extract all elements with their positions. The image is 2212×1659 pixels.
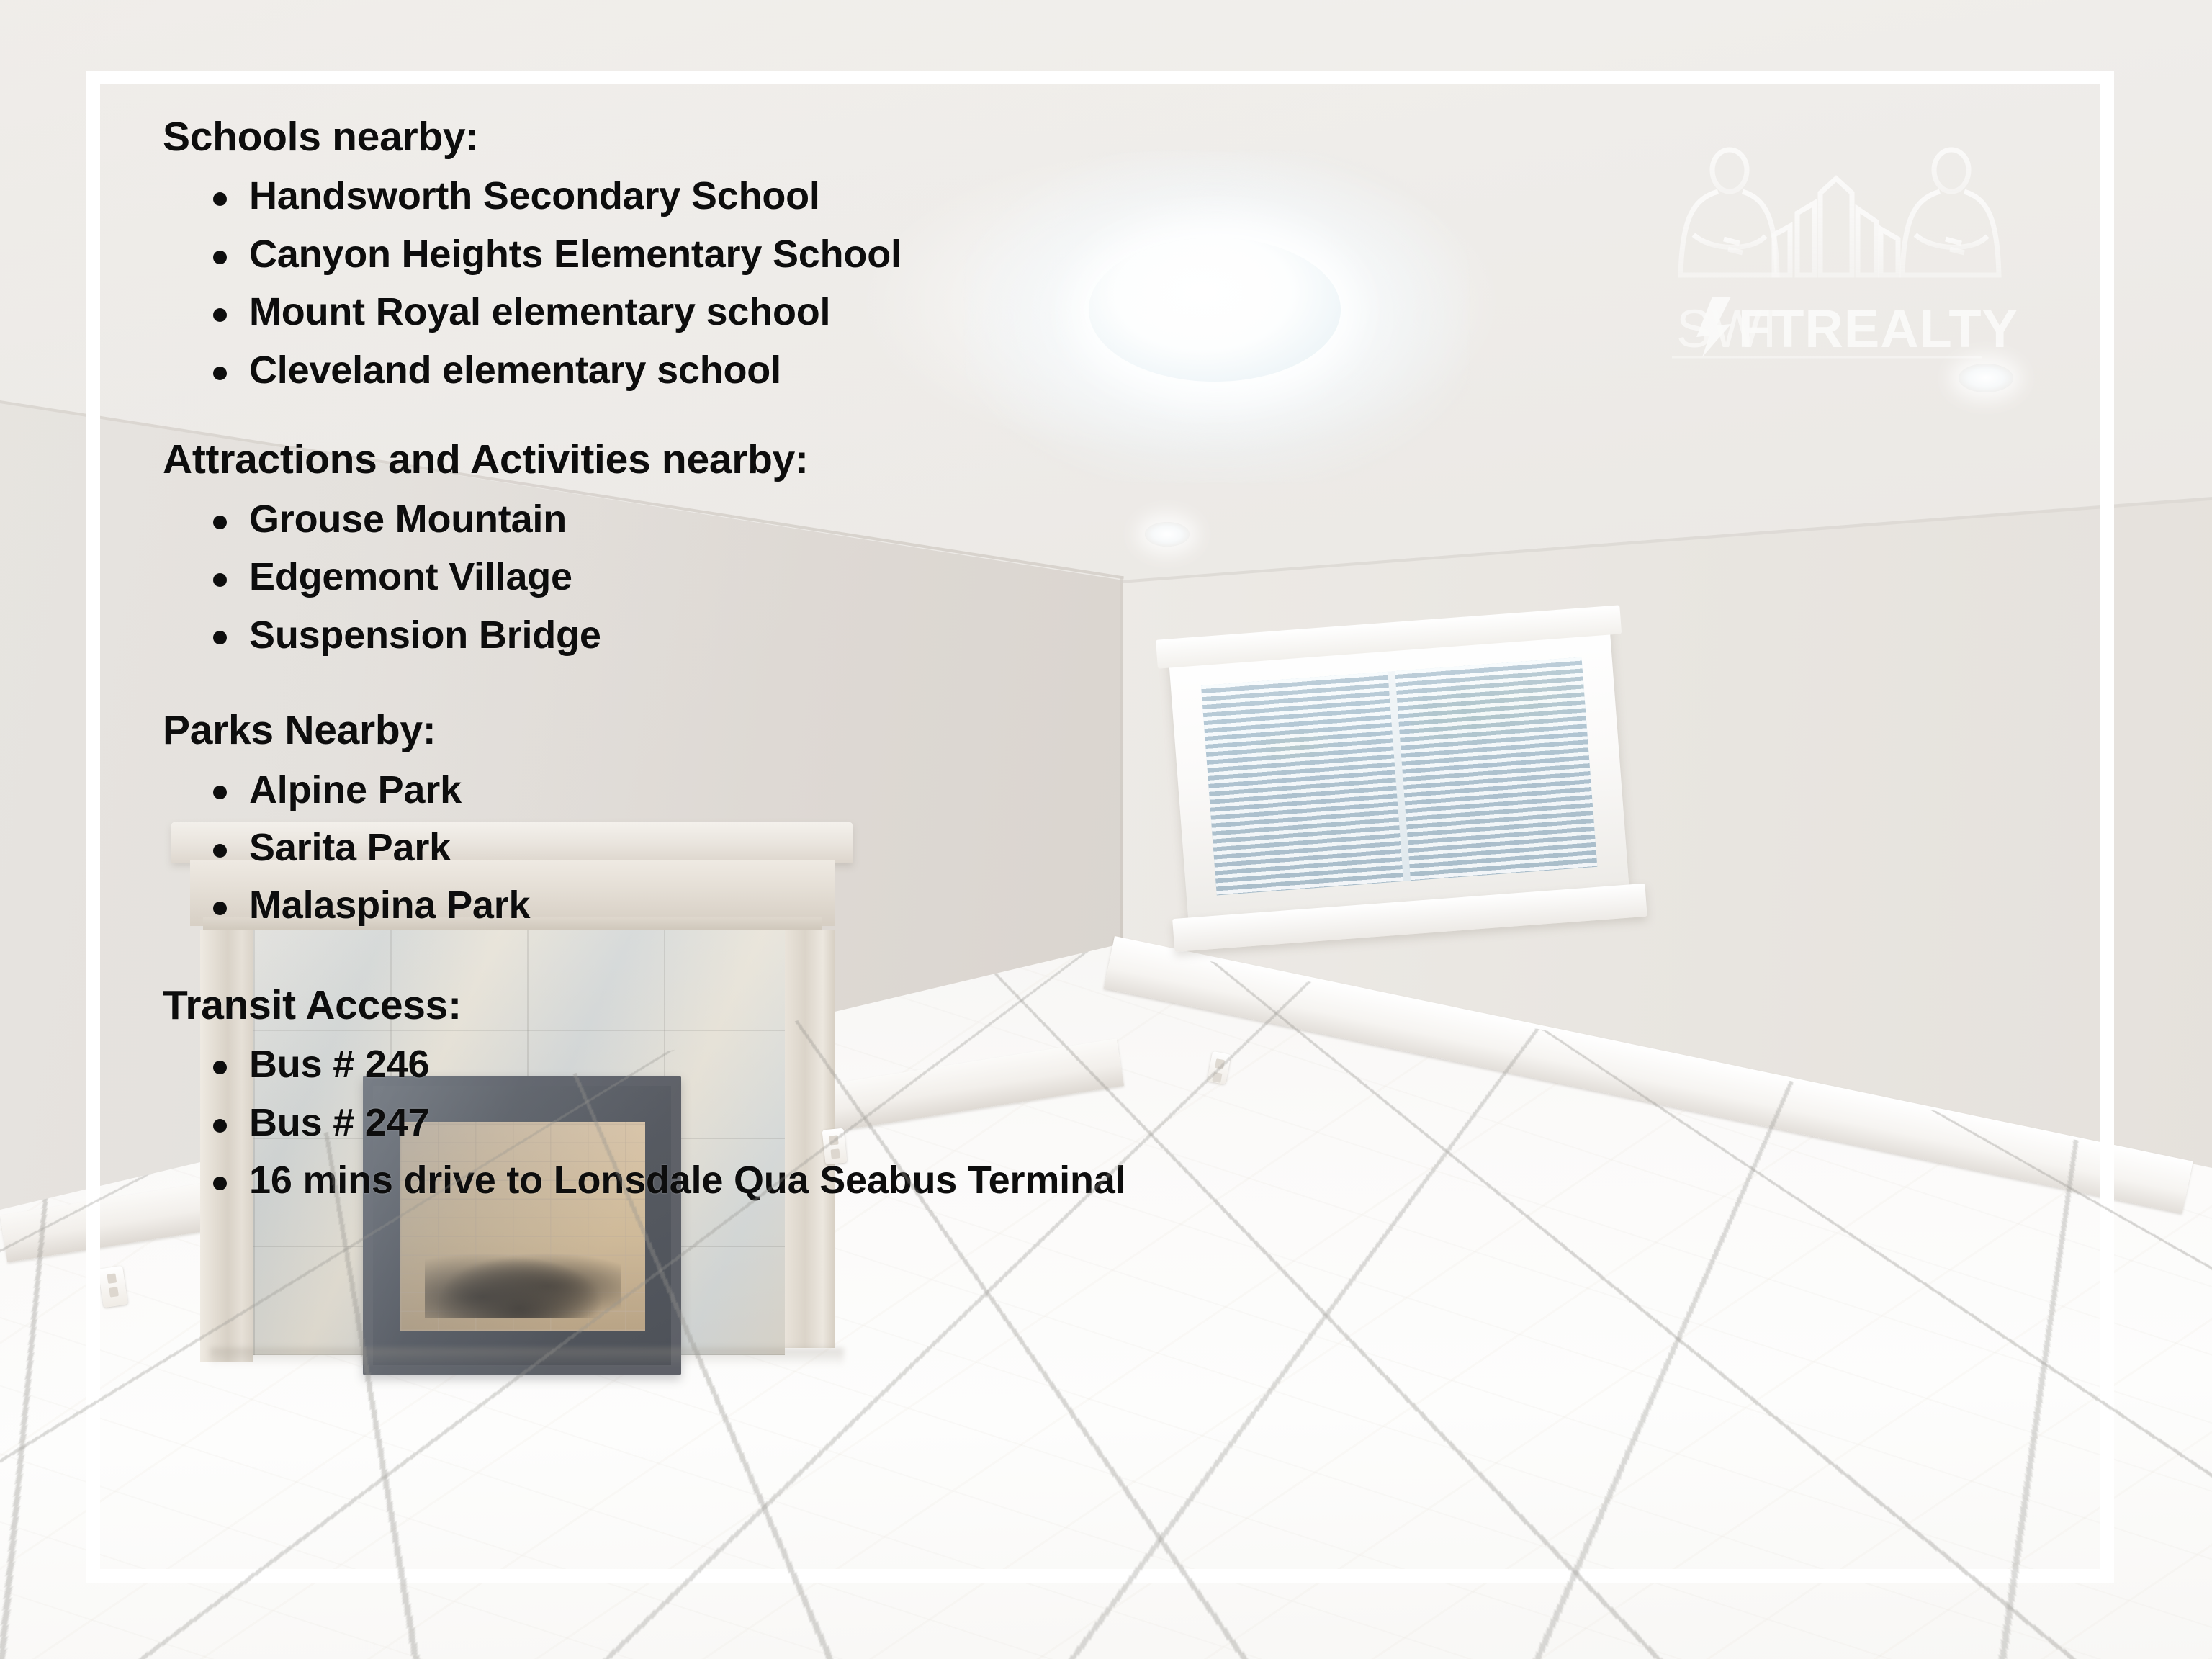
bullet-icon xyxy=(213,844,227,858)
attractions-list: Grouse Mountain Edgemont Village Suspens… xyxy=(163,498,1444,657)
section-parks: Parks Nearby: Alpine Park Sarita Park Ma… xyxy=(163,709,1444,927)
recessed-light-icon xyxy=(1959,364,2013,392)
list-item: Edgemont Village xyxy=(209,555,1444,598)
bullet-icon xyxy=(213,786,227,799)
list-item-label: Sarita Park xyxy=(249,826,451,869)
bullet-icon xyxy=(213,516,227,529)
listing-highlights: Schools nearby: Handsworth Secondary Sch… xyxy=(163,115,1444,1202)
bullet-icon xyxy=(213,1119,227,1133)
section-heading: Attractions and Activities nearby: xyxy=(163,438,1444,481)
list-item-label: 16 mins drive to Lonsdale Qua Seabus Ter… xyxy=(249,1159,1125,1202)
bullet-icon xyxy=(213,1177,227,1190)
list-item: Bus # 246 xyxy=(209,1043,1444,1086)
list-item-label: Suspension Bridge xyxy=(249,613,601,657)
transit-list: Bus # 246 Bus # 247 16 mins drive to Lon… xyxy=(163,1043,1444,1202)
list-item: Canyon Heights Elementary School xyxy=(209,233,1444,276)
list-item-label: Bus # 246 xyxy=(249,1043,429,1086)
list-item-label: Alpine Park xyxy=(249,768,462,811)
parks-list: Alpine Park Sarita Park Malaspina Park xyxy=(163,768,1444,927)
listing-infographic: SWI FTREALTY Schools nearby: Handsworth … xyxy=(0,0,2212,1659)
bullet-icon xyxy=(213,251,227,264)
bullet-icon xyxy=(213,308,227,322)
bullet-icon xyxy=(213,573,227,587)
bullet-icon xyxy=(213,367,227,380)
list-item: Sarita Park xyxy=(209,826,1444,869)
list-item: Mount Royal elementary school xyxy=(209,290,1444,333)
list-item-label: Malaspina Park xyxy=(249,884,530,927)
list-item-label: Handsworth Secondary School xyxy=(249,174,820,217)
section-transit: Transit Access: Bus # 246 Bus # 247 16 m… xyxy=(163,984,1444,1202)
list-item-label: Cleveland elementary school xyxy=(249,349,781,392)
list-item-label: Canyon Heights Elementary School xyxy=(249,233,902,276)
list-item-label: Mount Royal elementary school xyxy=(249,290,830,333)
list-item: Alpine Park xyxy=(209,768,1444,811)
bullet-icon xyxy=(213,631,227,644)
schools-list: Handsworth Secondary School Canyon Heigh… xyxy=(163,174,1444,392)
section-attractions: Attractions and Activities nearby: Grous… xyxy=(163,438,1444,657)
list-item: 16 mins drive to Lonsdale Qua Seabus Ter… xyxy=(209,1159,1444,1202)
bullet-icon xyxy=(213,902,227,915)
section-heading: Parks Nearby: xyxy=(163,709,1444,752)
list-item: Cleveland elementary school xyxy=(209,349,1444,392)
section-heading: Schools nearby: xyxy=(163,115,1444,158)
bullet-icon xyxy=(213,192,227,206)
list-item: Malaspina Park xyxy=(209,884,1444,927)
list-item: Bus # 247 xyxy=(209,1101,1444,1144)
list-item: Handsworth Secondary School xyxy=(209,174,1444,217)
bullet-icon xyxy=(213,1061,227,1074)
list-item-label: Grouse Mountain xyxy=(249,498,567,541)
hearth-shadow xyxy=(210,1348,844,1367)
list-item-label: Edgemont Village xyxy=(249,555,572,598)
list-item: Grouse Mountain xyxy=(209,498,1444,541)
section-heading: Transit Access: xyxy=(163,984,1444,1027)
list-item-label: Bus # 247 xyxy=(249,1101,429,1144)
section-schools: Schools nearby: Handsworth Secondary Sch… xyxy=(163,115,1444,392)
list-item: Suspension Bridge xyxy=(209,613,1444,657)
